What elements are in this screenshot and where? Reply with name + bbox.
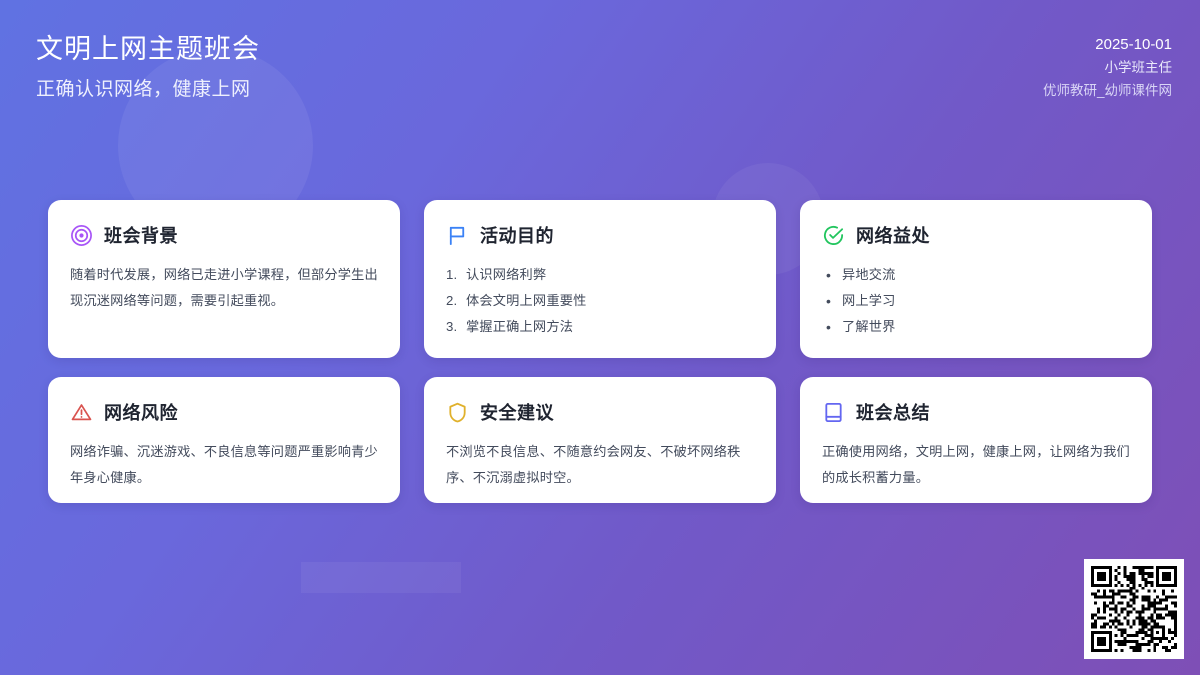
list-item: 网上学习 <box>822 288 1130 314</box>
card-title: 班会总结 <box>856 399 930 425</box>
card-objectives: 活动目的 认识网络利弊 体会文明上网重要性 掌握正确上网方法 <box>424 200 776 358</box>
qr-code[interactable] <box>1084 559 1184 659</box>
card-header: 网络益处 <box>822 222 1130 248</box>
shield-icon <box>446 401 469 424</box>
book-icon <box>822 401 845 424</box>
card-header: 活动目的 <box>446 222 754 248</box>
meta-date: 2025-10-01 <box>1043 33 1172 56</box>
list-item: 体会文明上网重要性 <box>446 288 754 314</box>
warning-triangle-icon <box>70 401 93 424</box>
list-item: 认识网络利弊 <box>446 262 754 288</box>
card-header: 班会背景 <box>70 222 378 248</box>
card-body: 随着时代发展，网络已走进小学课程，但部分学生出现沉迷网络等问题，需要引起重视。 <box>70 262 378 314</box>
meta-site: 优师教研_幼师课件网 <box>1043 79 1172 102</box>
card-safety-advice: 安全建议 不浏览不良信息、不随意约会网友、不破坏网络秩序、不沉溺虚拟时空。 <box>424 377 776 503</box>
page-subtitle: 正确认识网络，健康上网 <box>36 77 260 103</box>
list-item: 异地交流 <box>822 262 1130 288</box>
qr-code-image <box>1091 566 1177 652</box>
card-title: 班会背景 <box>104 222 178 248</box>
card-title: 网络益处 <box>856 222 930 248</box>
card-header: 网络风险 <box>70 399 378 425</box>
flag-icon <box>446 224 469 247</box>
list-item: 掌握正确上网方法 <box>446 314 754 340</box>
header-meta-block: 2025-10-01 小学班主任 优师教研_幼师课件网 <box>1043 33 1172 102</box>
card-grid: 班会背景 随着时代发展，网络已走进小学课程，但部分学生出现沉迷网络等问题，需要引… <box>48 200 1152 503</box>
card-body: 正确使用网络，文明上网，健康上网，让网络为我们的成长积蓄力量。 <box>822 439 1130 491</box>
list-item: 了解世界 <box>822 314 1130 340</box>
card-summary: 班会总结 正确使用网络，文明上网，健康上网，让网络为我们的成长积蓄力量。 <box>800 377 1152 503</box>
card-title: 网络风险 <box>104 399 178 425</box>
card-header: 安全建议 <box>446 399 754 425</box>
card-body: 网络诈骗、沉迷游戏、不良信息等问题严重影响青少年身心健康。 <box>70 439 378 491</box>
card-background: 班会背景 随着时代发展，网络已走进小学课程，但部分学生出现沉迷网络等问题，需要引… <box>48 200 400 358</box>
card-title: 活动目的 <box>480 222 554 248</box>
card-risks: 网络风险 网络诈骗、沉迷游戏、不良信息等问题严重影响青少年身心健康。 <box>48 377 400 503</box>
card-benefits: 网络益处 异地交流 网上学习 了解世界 <box>800 200 1152 358</box>
card-header: 班会总结 <box>822 399 1130 425</box>
objectives-list: 认识网络利弊 体会文明上网重要性 掌握正确上网方法 <box>446 262 754 340</box>
benefits-list: 异地交流 网上学习 了解世界 <box>822 262 1130 340</box>
card-title: 安全建议 <box>480 399 554 425</box>
header-left-block: 文明上网主题班会 正确认识网络，健康上网 <box>36 30 260 103</box>
card-body: 不浏览不良信息、不随意约会网友、不破坏网络秩序、不沉溺虚拟时空。 <box>446 439 754 491</box>
page-title: 文明上网主题班会 <box>36 30 260 68</box>
meta-role: 小学班主任 <box>1043 56 1172 79</box>
target-icon <box>70 224 93 247</box>
check-circle-icon <box>822 224 845 247</box>
decor-rectangle <box>301 562 461 593</box>
slide-header: 文明上网主题班会 正确认识网络，健康上网 2025-10-01 小学班主任 优师… <box>0 0 1200 140</box>
